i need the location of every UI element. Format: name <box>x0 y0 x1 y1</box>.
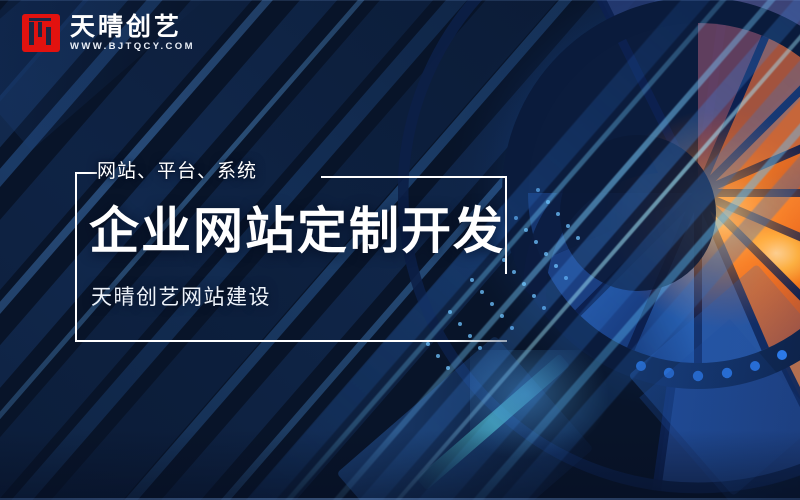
frame-right-border <box>505 176 507 274</box>
logo-company-name: 天晴创艺 <box>70 15 195 40</box>
eyebrow-text: 网站、平台、系统 <box>97 161 257 183</box>
tianqing-square-mark-icon <box>22 14 60 52</box>
logo-website-url: WWW.BJTQCY.COM <box>70 42 195 52</box>
frame-top-stub <box>75 172 97 174</box>
subtitle-text: 天晴创艺网站建设 <box>91 284 271 312</box>
logo-text-group: 天晴创艺 WWW.BJTQCY.COM <box>70 15 195 52</box>
promo-banner: 天晴创艺 WWW.BJTQCY.COM 网站、平台、系统 企业网站定制开发 天晴… <box>0 0 800 500</box>
page-title: 企业网站定制开发 <box>89 202 505 260</box>
headline-block: 网站、平台、系统 企业网站定制开发 天晴创艺网站建设 <box>75 172 507 342</box>
frame-top-rule <box>321 176 507 178</box>
frame-left-border <box>75 172 77 342</box>
top-edge-line <box>0 0 800 1</box>
brand-logo[interactable]: 天晴创艺 WWW.BJTQCY.COM <box>22 14 195 52</box>
frame-bottom-border <box>75 340 507 342</box>
